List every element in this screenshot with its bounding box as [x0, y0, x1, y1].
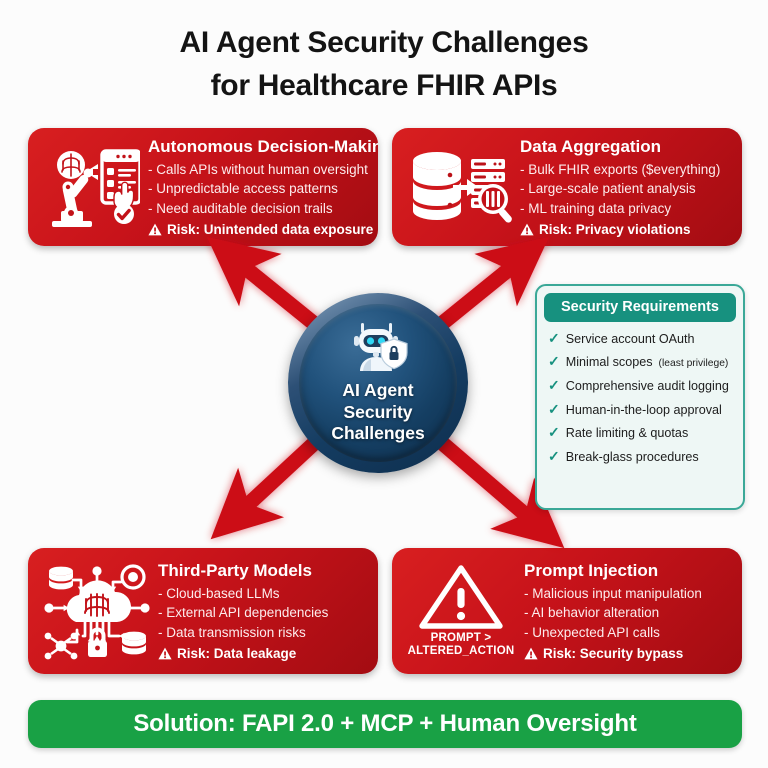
security-requirements-header: Security Requirements: [544, 293, 736, 322]
card-title: Prompt Injection: [524, 561, 732, 581]
solution-banner[interactable]: Solution: FAPI 2.0 + MCP + Human Oversig…: [28, 700, 742, 748]
warning-triangle-icon: [524, 647, 538, 660]
requirement-item[interactable]: ✓ Comprehensive audit logging: [544, 374, 736, 397]
security-requirements-panel: Security Requirements ✓ Service account …: [535, 284, 745, 510]
card-risk-line: Risk: Unintended data exposure: [148, 222, 368, 237]
check-mark-icon: ✓: [548, 378, 560, 392]
arrow-up-right: [434, 262, 518, 330]
caption-line-1: PROMPT >: [408, 632, 515, 645]
requirement-item[interactable]: ✓ Break-glass procedures: [544, 445, 736, 468]
card-bullet: - AI behavior alteration: [524, 603, 732, 622]
card-bullet: - Cloud-based LLMs: [158, 584, 368, 603]
card-autonomous-body: Autonomous Decision-Making - Calls APIs …: [148, 137, 378, 237]
requirement-label: Comprehensive audit logging: [566, 379, 729, 393]
card-title: Third-Party Models: [158, 561, 368, 581]
card-bullet: - External API dependencies: [158, 603, 368, 622]
arrow-up-left: [238, 262, 322, 330]
card-risk-line: Risk: Security bypass: [524, 646, 732, 661]
card-bullet: - Data transmission risks: [158, 623, 368, 642]
requirement-item[interactable]: ✓ Human-in-the-loop approval: [544, 398, 736, 421]
requirement-item[interactable]: ✓ Service account OAuth: [544, 327, 736, 350]
requirement-label: Rate limiting & quotas: [566, 426, 689, 440]
card-title: Data Aggregation: [520, 137, 732, 157]
robot-arm-checklist-icon: [28, 141, 148, 233]
card-risk-text: Risk: Data leakage: [177, 646, 296, 661]
card-bullet: - Large-scale patient analysis: [520, 179, 732, 198]
card-risk-text: Risk: Security bypass: [543, 646, 683, 661]
card-title: Autonomous Decision-Making: [148, 137, 368, 157]
requirement-label: Break-glass procedures: [566, 450, 699, 464]
hub-line-1: AI Agent: [331, 380, 424, 402]
card-data-aggregation[interactable]: Data Aggregation - Bulk FHIR exports ($e…: [392, 128, 742, 246]
card-autonomous-decision-making[interactable]: Autonomous Decision-Making - Calls APIs …: [28, 128, 378, 246]
hub-line-2: Security: [331, 402, 424, 424]
requirement-note: (least privilege): [659, 358, 729, 370]
requirement-item[interactable]: ✓ Minimal scopes (least privilege): [544, 350, 736, 374]
check-mark-icon: ✓: [548, 449, 560, 463]
card-risk-text: Risk: Unintended data exposure: [167, 222, 373, 237]
arrow-down-right: [434, 436, 534, 522]
cloud-brain-network-icon: [28, 560, 158, 662]
solution-text: Solution: FAPI 2.0 + MCP + Human Oversig…: [133, 710, 636, 738]
check-mark-icon: ✓: [548, 331, 560, 345]
warning-triangle-icon: [148, 223, 162, 236]
warning-triangle-icon: [520, 223, 534, 236]
card-risk-line: Risk: Data leakage: [158, 646, 368, 661]
card-risk-text: Risk: Privacy violations: [539, 222, 691, 237]
infographic-canvas: AI Agent Security Challenges for Healthc…: [0, 0, 768, 768]
requirement-item[interactable]: ✓ Rate limiting & quotas: [544, 421, 736, 444]
card-bullet: - Calls APIs without human oversight: [148, 160, 368, 179]
prompt-injection-caption: PROMPT > ALTERED_ACTION: [408, 632, 515, 658]
center-hub[interactable]: AI Agent Security Challenges: [288, 293, 468, 473]
title-line-2: for Healthcare FHIR APIs: [0, 65, 768, 108]
warning-triangle-icon: [158, 647, 172, 660]
card-bullet: - ML training data privacy: [520, 199, 732, 218]
arrow-down-left: [240, 436, 322, 512]
title-line-1: AI Agent Security Challenges: [0, 22, 768, 65]
card-bullet: - Unpredictable access patterns: [148, 179, 368, 198]
check-mark-icon: ✓: [548, 425, 560, 439]
card-thirdparty-body: Third-Party Models - Cloud-based LLMs - …: [158, 561, 378, 661]
card-bullet: - Need auditable decision trails: [148, 199, 368, 218]
center-hub-label: AI Agent Security Challenges: [331, 380, 424, 445]
requirement-label: Service account OAuth: [566, 332, 695, 346]
requirement-label: Human-in-the-loop approval: [566, 403, 722, 417]
card-prompt-injection[interactable]: PROMPT > ALTERED_ACTION Prompt Injection…: [392, 548, 742, 674]
check-mark-icon: ✓: [548, 402, 560, 416]
caption-line-2: ALTERED_ACTION: [408, 645, 515, 658]
hub-line-3: Challenges: [331, 423, 424, 445]
page-title: AI Agent Security Challenges for Healthc…: [0, 22, 768, 107]
check-mark-icon: ✓: [548, 354, 560, 368]
warning-triangle-icon: PROMPT > ALTERED_ACTION: [392, 564, 524, 658]
card-aggregation-body: Data Aggregation - Bulk FHIR exports ($e…: [520, 137, 742, 237]
center-hub-inner: AI Agent Security Challenges: [299, 304, 457, 462]
database-search-icon: [392, 143, 520, 231]
card-bullet: - Malicious input manipulation: [524, 584, 732, 603]
requirement-label: Minimal scopes: [566, 355, 653, 369]
card-prompt-body: Prompt Injection - Malicious input manip…: [524, 561, 742, 661]
card-third-party-models[interactable]: Third-Party Models - Cloud-based LLMs - …: [28, 548, 378, 674]
card-bullet: - Unexpected API calls: [524, 623, 732, 642]
card-risk-line: Risk: Privacy violations: [520, 222, 732, 237]
robot-shield-icon: [345, 321, 411, 378]
card-bullet: - Bulk FHIR exports ($everything): [520, 160, 732, 179]
